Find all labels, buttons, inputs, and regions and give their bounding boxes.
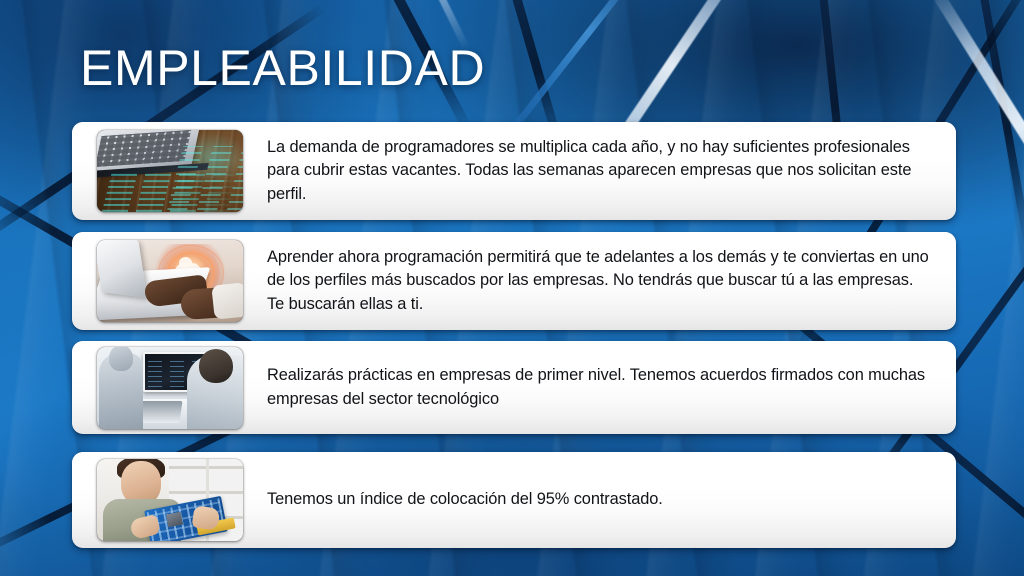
card-thumbnail	[97, 347, 243, 429]
content-card-list: La demanda de programadores se multiplic…	[72, 122, 956, 552]
card-text: La demanda de programadores se multiplic…	[243, 136, 956, 206]
content-card[interactable]: Realizarás prácticas en empresas de prim…	[72, 341, 956, 434]
card-text: Aprender ahora programación permitirá qu…	[243, 246, 956, 316]
card-text: Tenemos un índice de colocación del 95% …	[243, 488, 956, 511]
card-thumbnail	[97, 459, 243, 541]
two-people-reviewing-code-monitor-icon	[97, 347, 243, 429]
presentation-slide: EMPLEABILIDAD La demanda de programadore…	[0, 0, 1024, 576]
slide-title: EMPLEABILIDAD	[80, 42, 485, 95]
content-card[interactable]: Aprender ahora programación permitirá qu…	[72, 232, 956, 330]
hands-typing-laptop-cloud-hologram-icon	[97, 240, 243, 322]
laptop-keyboard-code-overlay-icon	[97, 130, 243, 212]
content-card[interactable]: Tenemos un índice de colocación del 95% …	[72, 452, 956, 548]
card-thumbnail	[97, 130, 243, 212]
card-text: Realizarás prácticas en empresas de prim…	[243, 364, 956, 411]
content-card[interactable]: La demanda de programadores se multiplic…	[72, 122, 956, 220]
card-thumbnail	[97, 240, 243, 322]
student-holding-circuit-board-icon	[97, 459, 243, 541]
